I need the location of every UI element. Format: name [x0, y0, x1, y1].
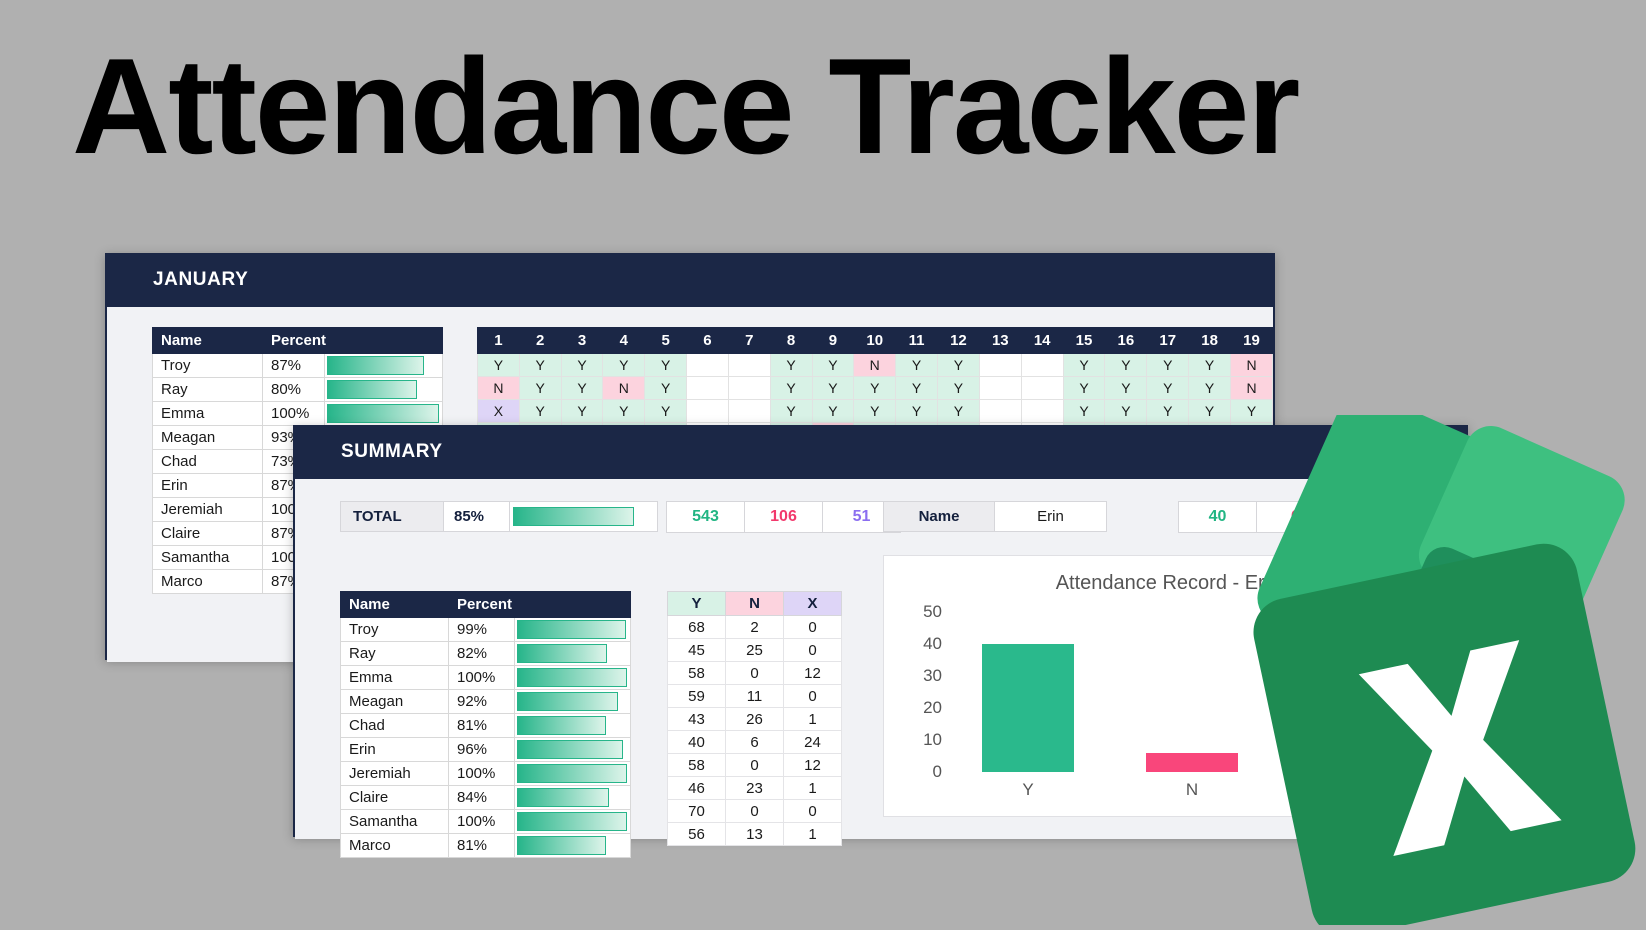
cell-name: Marco [341, 834, 449, 858]
grid-cell[interactable] [979, 400, 1021, 423]
grid-day-header: 13 [979, 328, 1021, 354]
cell-count-n: 25 [726, 639, 784, 662]
grid-cell[interactable]: Y [519, 354, 561, 377]
grid-cell[interactable] [687, 354, 729, 377]
name-selector[interactable]: Name Erin [883, 501, 1107, 532]
databar [517, 716, 606, 735]
table-row: Troy99% [341, 618, 631, 642]
cell-databar [515, 666, 631, 690]
grid-cell[interactable]: Y [812, 400, 854, 423]
grid-cell[interactable] [728, 377, 770, 400]
grid-day-header: 12 [938, 328, 980, 354]
grid-cell[interactable]: Y [770, 354, 812, 377]
cell-count-y: 43 [668, 708, 726, 731]
chart-y-tick: 50 [894, 602, 942, 622]
cell-name: Samantha [341, 810, 449, 834]
databar [327, 404, 439, 423]
grid-cell[interactable]: N [854, 354, 896, 377]
grid-day-header: 19 [1231, 328, 1273, 354]
grid-day-header: 6 [687, 328, 729, 354]
cell-percent: 81% [449, 714, 515, 738]
cell-name: Emma [341, 666, 449, 690]
cell-percent: 100% [449, 810, 515, 834]
databar [517, 836, 606, 855]
grid-cell[interactable]: Y [645, 354, 687, 377]
table-row: Emma100% [153, 402, 443, 426]
grid-cell[interactable]: Y [896, 354, 938, 377]
column-header-percent: Percent [449, 592, 631, 618]
grid-cell[interactable]: Y [1063, 354, 1105, 377]
grid-cell[interactable]: Y [1063, 377, 1105, 400]
cell-count-x: 1 [784, 777, 842, 800]
grid-cell[interactable] [979, 354, 1021, 377]
grid-cell[interactable]: Y [1105, 377, 1147, 400]
grid-cell[interactable] [1021, 400, 1063, 423]
cell-name: Troy [153, 354, 263, 378]
cell-databar [515, 690, 631, 714]
cell-databar [515, 642, 631, 666]
databar [517, 764, 627, 783]
grid-cell[interactable]: Y [1105, 400, 1147, 423]
cell-name: Emma [153, 402, 263, 426]
grid-cell[interactable]: Y [854, 400, 896, 423]
cell-databar [325, 402, 443, 426]
total-percent-bar-cell [510, 501, 658, 532]
grid-day-header: 1 [478, 328, 520, 354]
chart-x-label: Y [1022, 780, 1033, 800]
cell-count-x: 0 [784, 800, 842, 823]
grid-row: NYYNYYYYYYYYYYN [478, 377, 1273, 400]
grid-cell[interactable]: Y [519, 377, 561, 400]
cell-percent: 100% [263, 402, 325, 426]
name-selector-label: Name [883, 501, 995, 532]
table-row: 46231 [668, 777, 842, 800]
cell-count-x: 1 [784, 708, 842, 731]
table-row: 6820 [668, 616, 842, 639]
total-percent-databar [513, 507, 634, 526]
cell-name: Jeremiah [153, 498, 263, 522]
cell-databar [515, 762, 631, 786]
table-row: Chad81% [341, 714, 631, 738]
databar [327, 356, 424, 375]
databar [517, 644, 607, 663]
name-selector-value[interactable]: Erin [995, 501, 1107, 532]
total-percent-widget: TOTAL 85% [340, 501, 658, 532]
chart-y-tick: 10 [894, 730, 942, 750]
grid-header-row: 12345678910111213141516171819 [478, 328, 1273, 354]
databar [517, 620, 626, 639]
cell-name: Erin [153, 474, 263, 498]
cell-databar [325, 354, 443, 378]
table-row: Emma100% [341, 666, 631, 690]
grid-cell[interactable]: Y [854, 377, 896, 400]
grid-cell[interactable]: Y [1147, 377, 1189, 400]
table-row: 56131 [668, 823, 842, 846]
totals-counts-widget: 543 106 51 [667, 501, 901, 533]
page-title: Attendance Tracker [72, 38, 1298, 174]
grid-cell[interactable]: Y [1189, 377, 1231, 400]
cell-count-n: 0 [726, 800, 784, 823]
grid-cell[interactable]: N [478, 377, 520, 400]
table-header-row: Name Percent [153, 328, 443, 354]
table-row: 45250 [668, 639, 842, 662]
chart-bar-n [1146, 753, 1238, 772]
cell-count-y: 40 [668, 731, 726, 754]
cell-count-y: 68 [668, 616, 726, 639]
total-count-n: 106 [744, 501, 823, 533]
grid-day-header: 18 [1189, 328, 1231, 354]
grid-cell[interactable] [979, 377, 1021, 400]
cell-count-n: 0 [726, 662, 784, 685]
ynx-rows: 6820452505801259110432614062458012462317… [668, 616, 842, 846]
cell-name: Claire [153, 522, 263, 546]
table-row: Samantha100% [341, 810, 631, 834]
grid-cell[interactable]: Y [938, 400, 980, 423]
cell-percent: 80% [263, 378, 325, 402]
column-header-name: Name [153, 328, 263, 354]
databar [517, 692, 618, 711]
grid-cell[interactable]: Y [812, 354, 854, 377]
table-row: Meagan92% [341, 690, 631, 714]
cell-percent: 92% [449, 690, 515, 714]
cell-databar [515, 618, 631, 642]
grid-cell[interactable] [1021, 354, 1063, 377]
chart-y-tick: 20 [894, 698, 942, 718]
table-row: 7000 [668, 800, 842, 823]
grid-cell[interactable]: N [1231, 354, 1273, 377]
cell-count-y: 56 [668, 823, 726, 846]
table-row: 43261 [668, 708, 842, 731]
cell-name: Jeremiah [341, 762, 449, 786]
cell-name: Troy [341, 618, 449, 642]
grid-cell[interactable] [728, 400, 770, 423]
table-row: Troy87% [153, 354, 443, 378]
grid-cell[interactable]: Y [645, 377, 687, 400]
grid-cell[interactable]: Y [645, 400, 687, 423]
cell-count-y: 59 [668, 685, 726, 708]
cell-count-n: 2 [726, 616, 784, 639]
grid-cell[interactable]: Y [1147, 400, 1189, 423]
chart-bar-y [982, 644, 1074, 772]
cell-name: Ray [153, 378, 263, 402]
grid-cell[interactable] [687, 400, 729, 423]
grid-day-header: 15 [1063, 328, 1105, 354]
cell-percent: 84% [449, 786, 515, 810]
grid-day-header: 7 [728, 328, 770, 354]
total-count-y: 543 [666, 501, 745, 533]
chart-y-tick: 40 [894, 634, 942, 654]
cell-count-n: 0 [726, 754, 784, 777]
cell-count-n: 11 [726, 685, 784, 708]
grid-cell[interactable] [728, 354, 770, 377]
grid-cell[interactable]: Y [603, 400, 645, 423]
table-row: Ray82% [341, 642, 631, 666]
table-header-row: Y N X [668, 592, 842, 616]
cell-databar [515, 786, 631, 810]
cell-count-n: 26 [726, 708, 784, 731]
grid-cell[interactable]: Y [561, 377, 603, 400]
total-label: TOTAL [340, 501, 444, 532]
ynx-counts-table: Y N X 6820452505801259110432614062458012… [667, 591, 842, 846]
cell-name: Meagan [341, 690, 449, 714]
cell-count-n: 23 [726, 777, 784, 800]
grid-cell[interactable]: X [478, 400, 520, 423]
table-row: Marco81% [341, 834, 631, 858]
cell-name: Claire [341, 786, 449, 810]
chart-y-axis: 50403020100 [894, 612, 942, 772]
cell-percent: 100% [449, 762, 515, 786]
column-header-x: X [784, 592, 842, 616]
column-header-n: N [726, 592, 784, 616]
grid-cell[interactable]: Y [1189, 400, 1231, 423]
cell-count-y: 45 [668, 639, 726, 662]
table-row: 59110 [668, 685, 842, 708]
column-header-name: Name [341, 592, 449, 618]
cell-databar [515, 738, 631, 762]
cell-name: Chad [153, 450, 263, 474]
databar [327, 380, 417, 399]
grid-cell[interactable]: Y [561, 400, 603, 423]
grid-cell[interactable]: Y [603, 354, 645, 377]
january-window-title: JANUARY [105, 253, 1275, 291]
grid-cell[interactable]: Y [519, 400, 561, 423]
databar [517, 668, 627, 687]
cell-count-y: 58 [668, 662, 726, 685]
cell-databar [325, 378, 443, 402]
table-row: 58012 [668, 662, 842, 685]
table-header-row: Name Percent [341, 592, 631, 618]
grid-day-header: 8 [770, 328, 812, 354]
total-percent-value: 85% [444, 501, 510, 532]
table-row: Claire84% [341, 786, 631, 810]
table-row: Ray80% [153, 378, 443, 402]
cell-percent: 100% [449, 666, 515, 690]
grid-cell[interactable]: Y [938, 354, 980, 377]
cell-percent: 82% [449, 642, 515, 666]
cell-name: Ray [341, 642, 449, 666]
summary-percent-table: Name Percent Troy99%Ray82%Emma100%Meagan… [340, 591, 631, 858]
cell-name: Samantha [153, 546, 263, 570]
grid-day-header: 16 [1105, 328, 1147, 354]
grid-cell[interactable]: N [603, 377, 645, 400]
cell-percent: 99% [449, 618, 515, 642]
cell-percent: 81% [449, 834, 515, 858]
grid-day-header: 5 [645, 328, 687, 354]
cell-databar [515, 810, 631, 834]
grid-day-header: 4 [603, 328, 645, 354]
databar [517, 788, 609, 807]
column-header-percent: Percent [263, 328, 443, 354]
cell-name: Erin [341, 738, 449, 762]
grid-row: YYYYYYYNYYYYYYN [478, 354, 1273, 377]
grid-cell[interactable]: Y [896, 377, 938, 400]
cell-count-x: 0 [784, 639, 842, 662]
table-row: Erin96% [341, 738, 631, 762]
grid-cell[interactable] [1021, 377, 1063, 400]
cell-percent: 87% [263, 354, 325, 378]
cell-count-n: 13 [726, 823, 784, 846]
cell-databar [515, 714, 631, 738]
grid-day-header: 17 [1147, 328, 1189, 354]
table-row: Jeremiah100% [341, 762, 631, 786]
grid-cell[interactable]: Y [938, 377, 980, 400]
cell-name: Marco [153, 570, 263, 594]
grid-cell[interactable]: Y [478, 354, 520, 377]
cell-count-y: 70 [668, 800, 726, 823]
column-header-y: Y [668, 592, 726, 616]
databar [517, 740, 623, 759]
grid-day-header: 2 [519, 328, 561, 354]
cell-count-x: 0 [784, 616, 842, 639]
cell-name: Chad [341, 714, 449, 738]
excel-logo [1232, 415, 1646, 925]
cell-count-x: 12 [784, 662, 842, 685]
cell-count-x: 1 [784, 823, 842, 846]
cell-count-x: 12 [784, 754, 842, 777]
cell-databar [515, 834, 631, 858]
grid-cell[interactable]: Y [770, 400, 812, 423]
grid-cell[interactable]: N [1231, 377, 1273, 400]
grid-cell[interactable]: Y [561, 354, 603, 377]
grid-cell[interactable]: Y [1189, 354, 1231, 377]
grid-day-header: 3 [561, 328, 603, 354]
cell-count-x: 0 [784, 685, 842, 708]
cell-count-y: 58 [668, 754, 726, 777]
cell-percent: 96% [449, 738, 515, 762]
grid-day-header: 10 [854, 328, 896, 354]
grid-day-header: 9 [812, 328, 854, 354]
grid-cell[interactable]: Y [770, 377, 812, 400]
summary-percent-rows: Troy99%Ray82%Emma100%Meagan92%Chad81%Eri… [341, 618, 631, 858]
databar [517, 812, 627, 831]
cell-count-n: 6 [726, 731, 784, 754]
grid-row: XYYYYYYYYYYYYYY [478, 400, 1273, 423]
grid-day-header: 11 [896, 328, 938, 354]
table-row: 40624 [668, 731, 842, 754]
grid-cell[interactable]: Y [1147, 354, 1189, 377]
chart-y-tick: 30 [894, 666, 942, 686]
chart-y-tick: 0 [894, 762, 942, 782]
chart-x-label: N [1186, 780, 1198, 800]
cell-name: Meagan [153, 426, 263, 450]
grid-cell[interactable] [687, 377, 729, 400]
grid-cell[interactable]: Y [1063, 400, 1105, 423]
grid-cell[interactable]: Y [896, 400, 938, 423]
table-row: 58012 [668, 754, 842, 777]
cell-count-y: 46 [668, 777, 726, 800]
grid-cell[interactable]: Y [1105, 354, 1147, 377]
grid-cell[interactable]: Y [812, 377, 854, 400]
grid-day-header: 14 [1021, 328, 1063, 354]
cell-count-x: 24 [784, 731, 842, 754]
